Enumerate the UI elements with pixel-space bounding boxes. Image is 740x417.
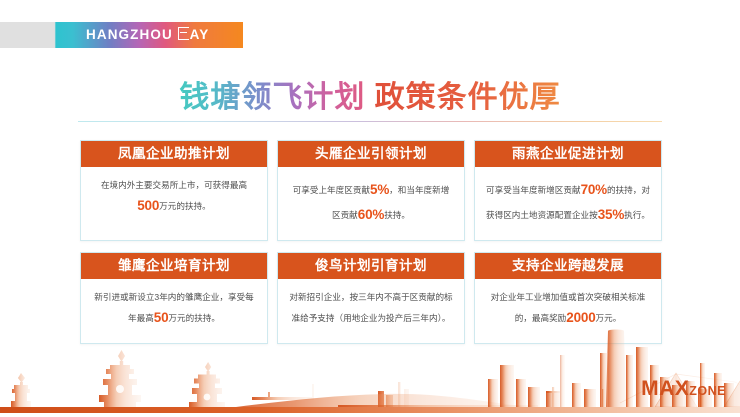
logo-b-glyph-icon (178, 27, 189, 40)
maxzone-brand-sub: ZONE (689, 384, 726, 398)
policy-card-body: 可享受上年度区贡献5%，和当年度新增区贡献60%扶持。 (278, 167, 464, 240)
maxzone-brand-main: MAX (641, 377, 689, 400)
title-divider (78, 121, 662, 122)
policy-card-body: 可享受当年度新增区贡献70%的扶持，对获得区内土地资源配置企业按35%执行。 (475, 167, 661, 240)
policy-card-body: 对新招引企业，按三年内不高于区贡献的标准给予支持（用地企业为投产后三年内）。 (278, 279, 464, 343)
policy-card-body: 对企业年工业增加值或首次突破相关标准的，最高奖励2000万元。 (475, 279, 661, 343)
body-text-pre: 在境内外主要交易所上市，可获得最高 (101, 180, 247, 190)
body-highlight-value: 500 (137, 198, 159, 213)
body-text-post: 万元。 (596, 313, 622, 323)
policy-card-heading: 俊鸟计划引育计划 (278, 253, 464, 279)
body-highlight-value: 5% (370, 182, 389, 197)
page-title-part2: 政策条件优厚 (375, 81, 561, 114)
policy-card[interactable]: 雏鹰企业培育计划 新引进或新设立3年内的雏鹰企业，享受每年最高50万元的扶持。 (80, 252, 268, 344)
body-text-post: 万元的扶持。 (168, 313, 220, 323)
body-text-post: 万元的扶持。 (159, 201, 211, 211)
policy-card-grid: 凤凰企业助推计划 在境内外主要交易所上市，可获得最高500万元的扶持。 头雁企业… (80, 140, 660, 344)
policy-card[interactable]: 雨燕企业促进计划 可享受当年度新增区贡献70%的扶持，对获得区内土地资源配置企业… (474, 140, 662, 241)
logo-word-bay: AY (190, 27, 210, 42)
body-text-post: 扶持。 (384, 210, 410, 220)
body-highlight-value-2: 60% (358, 207, 384, 222)
body-highlight-value: 2000 (566, 310, 595, 325)
body-highlight-value-2: 35% (598, 207, 624, 222)
body-text-post: 执行。 (624, 210, 650, 220)
body-highlight-value: 50 (154, 310, 169, 325)
maxzone-brand-logo: MAXZONE (641, 377, 726, 401)
body-text-pre: 可享受上年度区贡献 (293, 185, 370, 195)
page-title: 钱塘领飞计划 政策条件优厚 (0, 72, 740, 116)
policy-card[interactable]: 凤凰企业助推计划 在境内外主要交易所上市，可获得最高500万元的扶持。 (80, 140, 268, 241)
policy-card[interactable]: 支持企业跨越发展 对企业年工业增加值或首次突破相关标准的，最高奖励2000万元。 (474, 252, 662, 344)
body-text-pre: 可享受当年度新增区贡献 (486, 185, 581, 195)
policy-card-body: 在境内外主要交易所上市，可获得最高500万元的扶持。 (81, 167, 267, 231)
slide-canvas: HANGZHOU AY 钱塘领飞计划 政策条件优厚 凤凰企业助推计划 在境内外主… (0, 0, 740, 417)
policy-card-heading: 头雁企业引领计划 (278, 141, 464, 167)
body-highlight-value: 70% (581, 182, 607, 197)
policy-card-body: 新引进或新设立3年内的雏鹰企业，享受每年最高50万元的扶持。 (81, 279, 267, 343)
skyline-base-strip (0, 407, 740, 413)
policy-card[interactable]: 俊鸟计划引育计划 对新招引企业，按三年内不高于区贡献的标准给予支持（用地企业为投… (277, 252, 465, 344)
page-title-part1: 钱塘领飞计划 (179, 81, 365, 114)
hangzhou-bay-logo-text: HANGZHOU AY (86, 25, 209, 45)
policy-card-heading: 雨燕企业促进计划 (475, 141, 661, 167)
policy-card-heading: 雏鹰企业培育计划 (81, 253, 267, 279)
logo-word-hangzhou: HANGZHOU (86, 27, 173, 42)
policy-card-heading: 凤凰企业助推计划 (81, 141, 267, 167)
policy-card-heading: 支持企业跨越发展 (475, 253, 661, 279)
skyline-buildings (11, 350, 604, 407)
body-text-pre: 对新招引企业，按三年内不高于区贡献的标准给予支持（用地企业为投产后三年内）。 (289, 292, 452, 323)
policy-card[interactable]: 头雁企业引领计划 可享受上年度区贡献5%，和当年度新增区贡献60%扶持。 (277, 140, 465, 241)
